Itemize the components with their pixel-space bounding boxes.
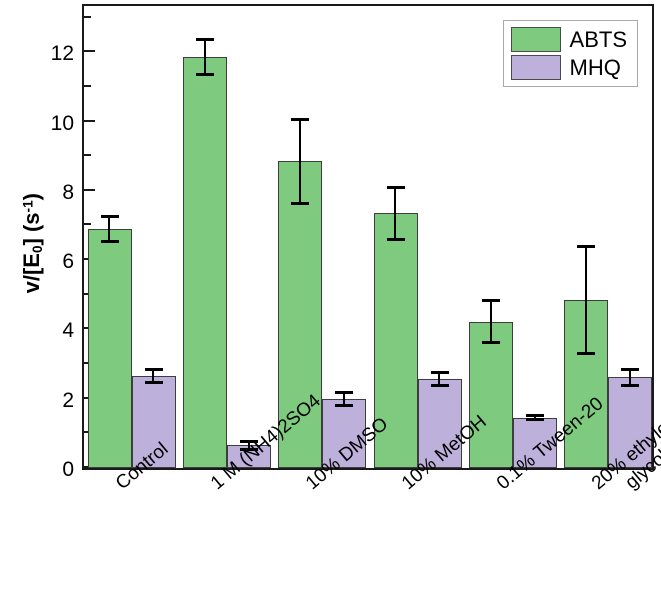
y-tick-label: 0 — [34, 459, 74, 480]
error-bar-cap-top — [387, 186, 405, 189]
error-bar-cap-bottom — [526, 418, 544, 421]
error-bar-stem — [585, 246, 587, 353]
y-tick-label: 12 — [34, 43, 74, 64]
error-bar-cap-bottom — [101, 240, 119, 243]
y-axis-title: v/[E0] (s-1) — [19, 93, 45, 393]
error-bar-cap-top — [291, 118, 309, 121]
y-tick-minor — [84, 223, 91, 225]
error-bar-cap-top — [101, 215, 119, 218]
error-bar-cap-top — [577, 245, 595, 248]
bar-abts-0 — [88, 229, 132, 468]
error-bar-stem — [299, 120, 301, 203]
legend-swatch-mhq — [511, 55, 561, 80]
error-bar-cap-top — [145, 368, 163, 371]
legend-entry-abts: ABTS — [511, 27, 627, 52]
y-tick-label: 2 — [34, 390, 74, 411]
error-bar-stem — [108, 217, 110, 241]
y-tick-major — [84, 120, 95, 122]
y-tick-label: 8 — [34, 182, 74, 203]
error-bar-cap-bottom — [291, 202, 309, 205]
error-bar-stem — [204, 40, 206, 75]
error-bar-cap-top — [196, 38, 214, 41]
error-bar-cap-bottom — [335, 404, 353, 407]
y-tick-minor — [84, 85, 91, 87]
legend-swatch-abts — [511, 27, 561, 52]
bar-chart-figure: v/[E0] (s-1) ABTS MHQ 024681012 Control1… — [0, 0, 661, 607]
y-tick-label: 10 — [34, 113, 74, 134]
error-bar-cap-top — [482, 299, 500, 302]
error-bar-stem — [490, 301, 492, 343]
y-tick-major — [84, 189, 95, 191]
legend-entry-mhq: MHQ — [511, 55, 627, 80]
y-tick-minor — [84, 154, 91, 156]
y-tick-major — [84, 50, 95, 52]
error-bar-cap-bottom — [196, 73, 214, 76]
error-bar-cap-bottom — [431, 384, 449, 387]
y-tick-label: 6 — [34, 251, 74, 272]
y-tick-minor — [84, 16, 91, 18]
plot-area: ABTS MHQ — [82, 4, 654, 470]
error-bar-cap-bottom — [145, 381, 163, 384]
error-bar-cap-top — [335, 391, 353, 394]
error-bar-cap-bottom — [577, 352, 595, 355]
y-tick-label: 4 — [34, 320, 74, 341]
error-bar-cap-top — [621, 368, 639, 371]
error-bar-cap-top — [526, 414, 544, 417]
legend-label-abts: ABTS — [570, 29, 627, 51]
error-bar-stem — [394, 187, 396, 239]
y-axis-title-mid: ] (s — [19, 212, 44, 245]
chart-legend: ABTS MHQ — [503, 20, 638, 87]
error-bar-cap-bottom — [621, 384, 639, 387]
legend-label-mhq: MHQ — [570, 57, 621, 79]
bar-abts-1 — [183, 57, 227, 468]
error-bar-cap-bottom — [482, 341, 500, 344]
error-bar-cap-bottom — [387, 238, 405, 241]
error-bar-cap-top — [431, 371, 449, 374]
